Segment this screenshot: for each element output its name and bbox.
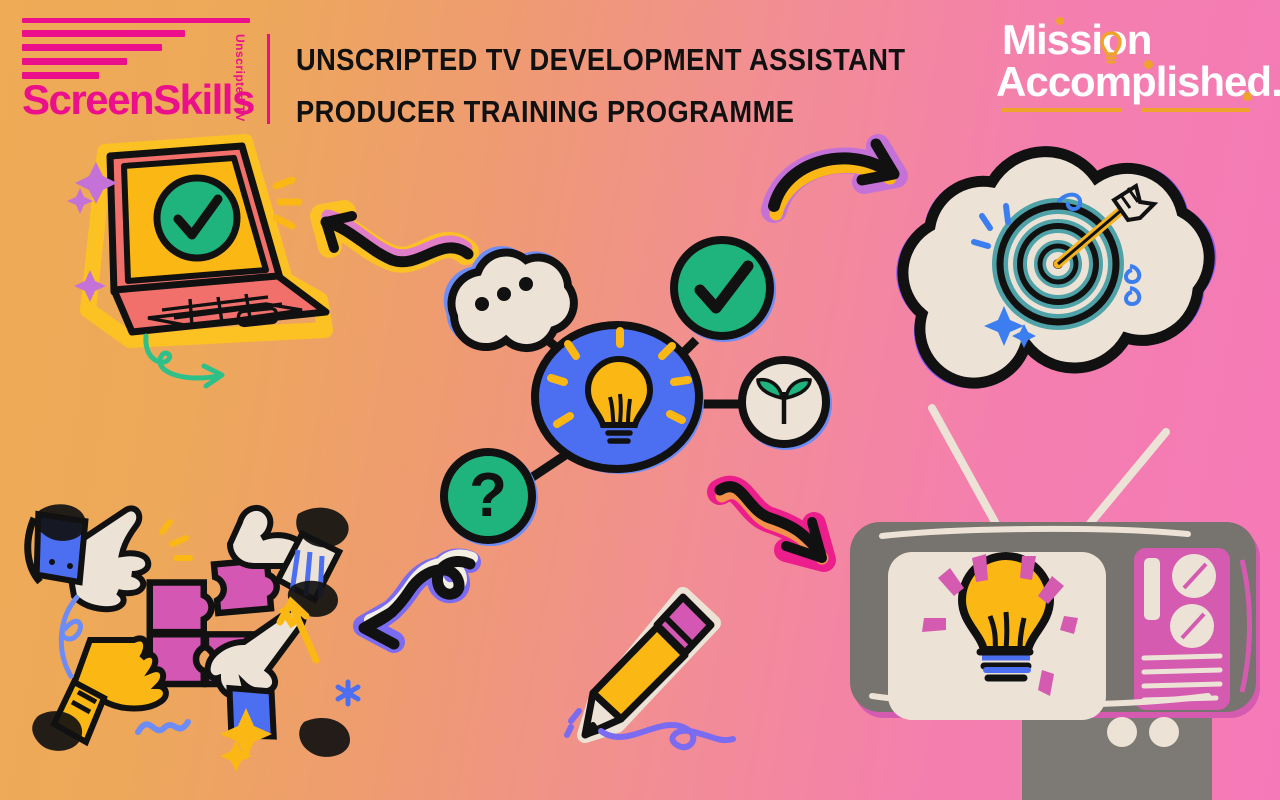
underline-left (1002, 108, 1122, 112)
tv-foot-right (1149, 717, 1179, 747)
accent-dot-mid (1144, 60, 1153, 69)
mission-word: Mission (1002, 16, 1151, 64)
pointing-hand (208, 608, 304, 742)
arrow-under-laptop (140, 330, 260, 400)
slide-canvas: ? (0, 0, 1280, 800)
cloud-target-illustration (862, 138, 1242, 403)
screenskills-logo[interactable]: ScreenSkills Unscripted TV (22, 18, 307, 123)
blue-wave (138, 722, 188, 732)
tv-foot-left (1107, 717, 1137, 747)
puzzle-hands-illustration (30, 500, 410, 795)
underline-right (1142, 108, 1250, 112)
check-icon (157, 178, 237, 258)
pencil-spark (567, 711, 579, 735)
title-line-1: UNSCRIPTED TV DEVELOPMENT ASSISTANT (296, 34, 859, 86)
laptop-shine (276, 180, 299, 226)
title-line-2: PRODUCER TRAINING PROGRAMME (296, 86, 859, 138)
yellow-shine-lines (162, 522, 190, 558)
question-node: ? (442, 450, 538, 546)
pencil-illustration (565, 585, 745, 765)
screenskills-divider (267, 34, 270, 124)
accomplished-word: Accomplished. (996, 58, 1280, 106)
accent-dot-period (1243, 92, 1252, 101)
television-illustration (836, 400, 1280, 800)
asterisk-icon (338, 682, 358, 704)
screenskills-sub-label: Unscripted TV (227, 34, 247, 124)
mission-accomplished-logo[interactable]: Mission Accomplished. (996, 14, 1264, 114)
accent-dot-top (1056, 17, 1064, 25)
mindmap-hub (535, 325, 704, 474)
lightbulb-icon (1096, 26, 1126, 66)
sprout-node (740, 358, 832, 450)
check-node (672, 238, 776, 342)
thought-cloud-node (444, 246, 574, 348)
question-mark-icon: ? (469, 461, 507, 530)
page-title: UNSCRIPTED TV DEVELOPMENT ASSISTANT PROD… (296, 34, 859, 138)
screenskills-wordmark: ScreenSkills (22, 76, 254, 124)
